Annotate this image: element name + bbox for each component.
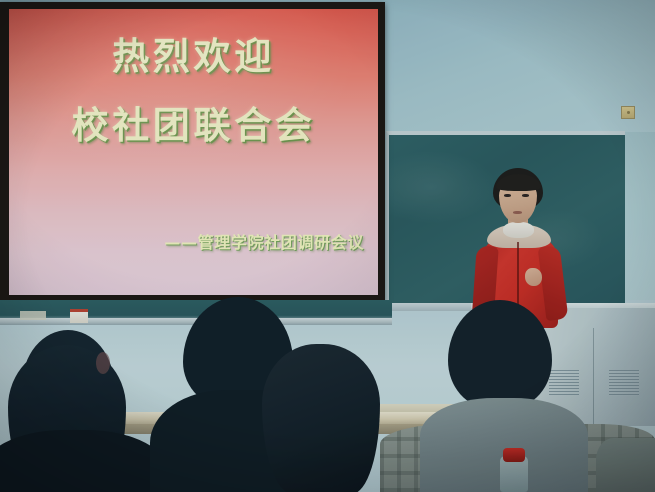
wall-upper-right <box>378 0 655 132</box>
audience-shoulders <box>596 438 655 492</box>
projection-screen-surface: 热烈欢迎 校社团联合会 ——管理学院社团调研会议 <box>9 9 378 295</box>
wall-socket-icon <box>621 106 635 119</box>
presenter-mouth <box>513 211 522 214</box>
presenter-eye-left <box>504 194 511 197</box>
presenter-turtleneck <box>503 222 534 238</box>
podium-seam <box>593 328 594 426</box>
vent-grille <box>609 370 639 396</box>
slide-title-line-2: 校社团联合会 <box>9 106 378 146</box>
chalk-box-icon <box>70 309 88 323</box>
slide-title-line-1: 热烈欢迎 <box>9 37 378 77</box>
projection-screen-frame: 热烈欢迎 校社团联合会 ——管理学院社团调研会议 <box>0 2 385 302</box>
presenter-eye-right <box>522 194 529 197</box>
audience-ear <box>96 352 110 374</box>
audience-hair <box>262 344 380 492</box>
slide-subtitle: ——管理学院社团调研会议 <box>164 229 364 253</box>
vent-grille <box>549 370 579 396</box>
presenter-hand-gesture <box>525 268 542 286</box>
chalk-tray-object <box>20 311 46 320</box>
water-bottle-cap <box>503 448 525 462</box>
classroom-photo: 热烈欢迎 校社团联合会 ——管理学院社团调研会议 <box>0 0 655 492</box>
